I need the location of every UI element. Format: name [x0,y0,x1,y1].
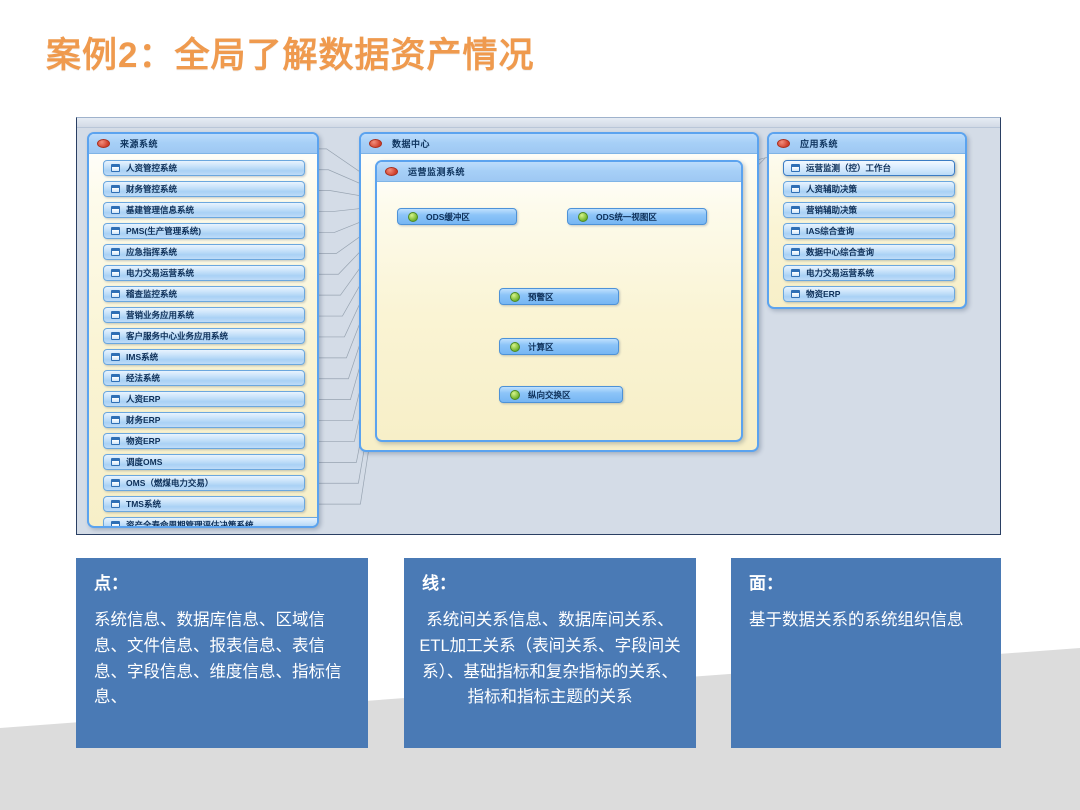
node-source-3[interactable]: PMS(生产管理系统) [103,223,305,239]
node-label: 资产全寿命周期管理评估决策系统 [126,519,254,526]
window-icon [791,185,800,193]
node-source-0[interactable]: 人资管控系统 [103,160,305,176]
node-label: 运营监测（控）工作台 [806,162,891,174]
panel-title-application: 应用系统 [800,137,838,150]
green-circle-icon [510,292,520,302]
summary-box-title: 面： [749,574,1001,594]
node-label: 电力交易运营系统 [126,267,194,279]
node-ods-buffer[interactable]: ODS缓冲区 [397,208,517,225]
panel-title-source: 来源系统 [120,137,158,150]
node-label: 财务管控系统 [126,183,177,195]
node-vertical-exchange-area[interactable]: 纵向交换区 [499,386,623,403]
window-icon [111,185,120,193]
red-circle-icon [777,139,790,148]
window-icon [111,458,120,466]
node-source-1[interactable]: 财务管控系统 [103,181,305,197]
node-source-14[interactable]: 调度OMS [103,454,305,470]
panel-header-source: 来源系统 [89,134,317,154]
window-icon [111,437,120,445]
window-icon [791,164,800,172]
node-source-5[interactable]: 电力交易运营系统 [103,265,305,281]
node-warning-area[interactable]: 预警区 [499,288,619,305]
panel-header-application: 应用系统 [769,134,965,154]
node-label: OMS（燃煤电力交易） [126,477,213,489]
node-source-15[interactable]: OMS（燃煤电力交易） [103,475,305,491]
window-icon [111,374,120,382]
window-icon [111,521,120,526]
slide-page: 案例2：全局了解数据资产情况 [0,0,1080,810]
panel-source-systems: 来源系统 人资管控系统 财务管控系统 基建管理信息系统 PMS(生产管理系统) [87,132,319,528]
red-circle-icon [369,139,382,148]
window-icon [111,206,120,214]
node-source-17[interactable]: 资产全寿命周期管理评估决策系统 [103,517,317,526]
window-icon [111,227,120,235]
node-app-1[interactable]: 人资辅助决策 [783,181,955,197]
green-circle-icon [578,212,588,222]
node-source-16[interactable]: TMS系统 [103,496,305,512]
node-label: 营销辅助决策 [806,204,857,216]
node-label: TMS系统 [126,498,161,510]
node-source-9[interactable]: IMS系统 [103,349,305,365]
node-label: PMS(生产管理系统) [126,225,201,237]
node-source-8[interactable]: 客户服务中心业务应用系统 [103,328,305,344]
node-source-4[interactable]: 应急指挥系统 [103,244,305,260]
node-label: 客户服务中心业务应用系统 [126,330,228,342]
summary-box-body: 系统信息、数据库信息、区域信息、文件信息、报表信息、表信息、字段信息、维度信息、… [94,608,354,710]
window-icon [791,290,800,298]
node-label: IMS系统 [126,351,158,363]
summary-box-body: 系统间关系信息、数据库间关系、 ETL加工关系（表间关系、字段间关系）、基础指标… [416,608,684,710]
node-label: 计算区 [528,341,554,353]
node-source-2[interactable]: 基建管理信息系统 [103,202,305,218]
panel-title-operations: 运营监测系统 [408,165,465,178]
node-label: 电力交易运营系统 [806,267,874,279]
window-icon [791,227,800,235]
red-circle-icon [385,167,398,176]
node-label: 纵向交换区 [528,389,571,401]
window-icon [111,479,120,487]
window-icon [111,332,120,340]
node-label: 财务ERP [126,414,160,426]
window-icon [111,416,120,424]
panel-application-systems: 应用系统 运营监测（控）工作台 人资辅助决策 营销辅助决策 IAS综合查询 [767,132,967,309]
summary-box-point: 点： 系统信息、数据库信息、区域信息、文件信息、报表信息、表信息、字段信息、维度… [76,558,368,748]
red-circle-icon [97,139,110,148]
summary-box-line: 线： 系统间关系信息、数据库间关系、 ETL加工关系（表间关系、字段间关系）、基… [404,558,696,748]
window-icon [791,206,800,214]
summary-box-title: 点： [94,574,368,594]
node-label: 调度OMS [126,456,162,468]
node-source-6[interactable]: 稽查监控系统 [103,286,305,302]
window-icon [111,353,120,361]
green-circle-icon [408,212,418,222]
summary-box-title: 线： [422,574,696,594]
node-label: 物资ERP [806,288,840,300]
panel-header-operations: 运营监测系统 [377,162,741,182]
node-label: ODS缓冲区 [426,211,470,223]
panel-data-center: 数据中心 运营监测系统 ODS缓冲区 [359,132,759,452]
node-label: 应急指挥系统 [126,246,177,258]
node-label: 物资ERP [126,435,160,447]
node-ods-unified-view[interactable]: ODS统一视图区 [567,208,707,225]
node-label: 人资辅助决策 [806,183,857,195]
node-label: 稽查监控系统 [126,288,177,300]
node-source-12[interactable]: 财务ERP [103,412,305,428]
node-label: 基建管理信息系统 [126,204,194,216]
window-icon [111,290,120,298]
node-source-10[interactable]: 经法系统 [103,370,305,386]
node-app-6[interactable]: 物资ERP [783,286,955,302]
node-label: 人资管控系统 [126,162,177,174]
summary-box-surface: 面： 基于数据关系的系统组织信息 [731,558,1001,748]
green-circle-icon [510,342,520,352]
node-label: 营销业务应用系统 [126,309,194,321]
window-icon [111,500,120,508]
window-icon [791,269,800,277]
node-app-4[interactable]: 数据中心综合查询 [783,244,955,260]
node-app-0[interactable]: 运营监测（控）工作台 [783,160,955,176]
diagram-top-strip [77,118,1000,128]
page-title: 案例2：全局了解数据资产情况 [46,27,534,78]
window-icon [111,311,120,319]
panel-title-datacenter: 数据中心 [392,137,430,150]
node-source-7[interactable]: 营销业务应用系统 [103,307,305,323]
summary-box-body: 基于数据关系的系统组织信息 [749,608,987,634]
panel-operations-monitoring: 运营监测系统 ODS缓冲区 ODS统一视图区 预警区 [375,160,743,442]
node-label: ODS统一视图区 [596,211,657,223]
node-label: IAS综合查询 [806,225,854,237]
panel-header-datacenter: 数据中心 [361,134,757,154]
node-label: 预警区 [528,291,554,303]
window-icon [111,248,120,256]
node-label: 经法系统 [126,372,160,384]
window-icon [791,248,800,256]
node-app-3[interactable]: IAS综合查询 [783,223,955,239]
node-label: 数据中心综合查询 [806,246,874,258]
node-source-13[interactable]: 物资ERP [103,433,305,449]
node-source-11[interactable]: 人资ERP [103,391,305,407]
node-app-5[interactable]: 电力交易运营系统 [783,265,955,281]
window-icon [111,269,120,277]
node-app-2[interactable]: 营销辅助决策 [783,202,955,218]
architecture-diagram: 来源系统 人资管控系统 财务管控系统 基建管理信息系统 PMS(生产管理系统) [76,117,1001,535]
green-circle-icon [510,390,520,400]
node-label: 人资ERP [126,393,160,405]
node-compute-area[interactable]: 计算区 [499,338,619,355]
window-icon [111,164,120,172]
window-icon [111,395,120,403]
